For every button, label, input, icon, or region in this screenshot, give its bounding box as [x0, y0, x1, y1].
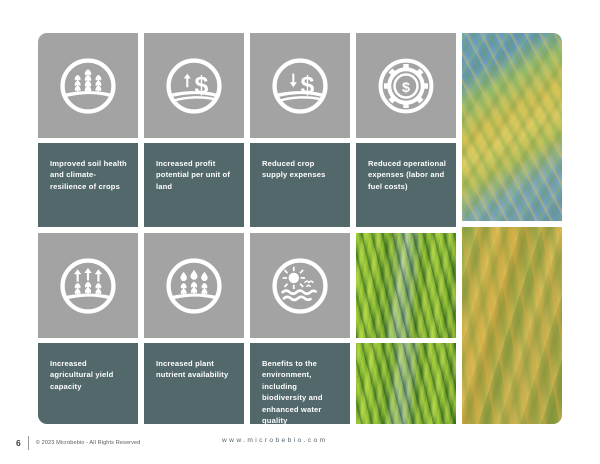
benefit-text-tile-5: Increased agricultural yield capacity	[38, 343, 138, 424]
page-canvas: Improved soil health and climate-resilie…	[0, 0, 600, 464]
photo-rice-stalk-closeup	[462, 227, 562, 424]
benefit-text-tile-2: Increased profit potential per unit of l…	[144, 143, 244, 227]
benefit-column-photos	[462, 33, 562, 424]
icon-tile-wheat-field	[38, 33, 138, 138]
benefit-label-2: Increased profit potential per unit of l…	[156, 158, 234, 192]
icon-tile-environment	[250, 233, 350, 338]
wheat-field-circle-icon	[57, 55, 119, 117]
photo-rice-stalk-closeup-image	[462, 227, 562, 424]
icon-tile-operational: $	[356, 33, 456, 138]
gear-dollar-icon: $	[375, 55, 437, 117]
benefit-label-1: Improved soil health and climate-resilie…	[50, 158, 128, 192]
benefit-text-tile-6: Increased plant nutrient availability	[144, 343, 244, 424]
sun-water-birds-circle-icon	[269, 255, 331, 317]
photo-rice-paddy-water	[356, 343, 456, 424]
benefit-text-tile-3: Reduced crop supply expenses	[250, 143, 350, 227]
website-url[interactable]: www.microbebio.com	[222, 437, 328, 444]
benefit-label-4: Reduced operational expenses (labor and …	[368, 158, 446, 192]
icon-tile-wheat-droplets	[144, 233, 244, 338]
photo-rice-paddy-rows-image	[356, 233, 456, 338]
benefit-text-tile-7: Benefits to the environment, including b…	[250, 343, 350, 424]
photo-rice-stalk-blue-sky	[462, 33, 562, 221]
benefit-label-3: Reduced crop supply expenses	[262, 158, 340, 181]
benefit-text-tile-1: Improved soil health and climate-resilie…	[38, 143, 138, 227]
page-number: 6	[16, 438, 28, 448]
benefit-label-7: Benefits to the environment, including b…	[262, 358, 340, 424]
icon-tile-cost-down: $	[250, 33, 350, 138]
benefit-column-4: $ Reduced operational expenses (labor an…	[356, 33, 456, 424]
benefit-column-2: $ Increased profit potential per unit of…	[144, 33, 244, 424]
icon-tile-profit-up: $	[144, 33, 244, 138]
benefits-tile-grid: Improved soil health and climate-resilie…	[38, 33, 562, 424]
benefit-column-1: Improved soil health and climate-resilie…	[38, 33, 138, 424]
svg-text:$: $	[195, 72, 209, 99]
photo-rice-stalk-blue-sky-image	[462, 33, 562, 221]
svg-text:$: $	[301, 72, 315, 99]
svg-text:$: $	[402, 80, 410, 96]
page-footer: 6 © 2023 Microbebio - All Rights Reserve…	[0, 432, 600, 464]
benefit-text-tile-4: Reduced operational expenses (labor and …	[356, 143, 456, 227]
benefit-label-6: Increased plant nutrient availability	[156, 358, 234, 381]
wheat-droplets-circle-icon	[163, 255, 225, 317]
benefit-label-5: Increased agricultural yield capacity	[50, 358, 128, 392]
photo-rice-paddy-rows	[356, 233, 456, 338]
dollar-down-field-circle-icon: $	[269, 55, 331, 117]
photo-rice-paddy-water-image	[356, 343, 456, 424]
footer-left-group: 6 © 2023 Microbebio - All Rights Reserve…	[16, 435, 140, 451]
icon-tile-wheat-arrows	[38, 233, 138, 338]
benefit-column-3: $ Reduced crop supply expenses	[250, 33, 350, 424]
wheat-up-arrows-circle-icon	[57, 255, 119, 317]
dollar-up-field-circle-icon: $	[163, 55, 225, 117]
copyright-notice: © 2023 Microbebio - All Rights Reserved	[29, 440, 141, 446]
